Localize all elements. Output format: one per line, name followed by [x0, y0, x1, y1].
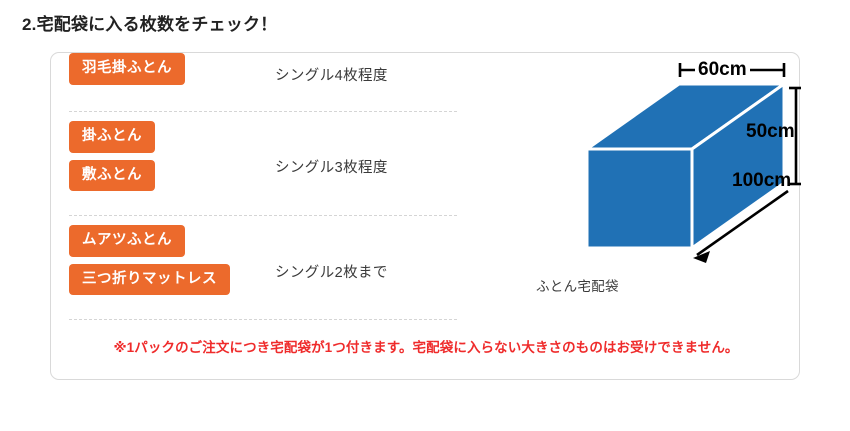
capacity-description: シングル4枚程度 [275, 64, 388, 85]
badge-wrap: 敷ふとん [69, 160, 269, 192]
height-dimension-label: 50cm [746, 121, 795, 143]
badge-wrap: ムアツふとん [69, 225, 269, 257]
capacity-description: シングル3枚程度 [275, 156, 388, 177]
page-title: 2.宅配袋に入る枚数をチェック！ [22, 10, 277, 35]
badge-wrap: 掛ふとん [69, 121, 269, 153]
item-badge: 掛ふとん [69, 121, 155, 153]
capacity-row: ムアツふとん 三つ折りマットレス シングル2枚まで [51, 225, 461, 317]
capacity-row: 掛ふとん 敷ふとん シングル3枚程度 [51, 121, 461, 213]
badge-group: ムアツふとん 三つ折りマットレス [69, 225, 269, 295]
item-badge: ムアツふとん [69, 225, 185, 257]
delivery-bag-note: ※1パックのご注文につき宅配袋が1つ付きます。宅配袋に入らない大きさのものはお受… [51, 336, 801, 356]
item-badge: 羽毛掛ふとん [69, 53, 185, 85]
capacity-card: 羽毛掛ふとん シングル4枚程度 掛ふとん 敷ふとん シングル3枚程度 [50, 52, 800, 380]
row-divider [69, 215, 457, 216]
capacity-row-list: 羽毛掛ふとん シングル4枚程度 掛ふとん 敷ふとん シングル3枚程度 [51, 53, 461, 325]
diagram-caption: ふとん宅配袋 [536, 275, 619, 295]
row-divider [69, 319, 457, 320]
badge-group: 羽毛掛ふとん [69, 53, 269, 85]
capacity-row: 羽毛掛ふとん シングル4枚程度 [51, 53, 461, 111]
depth-dimension-label: 100cm [732, 170, 791, 192]
badge-group: 掛ふとん 敷ふとん [69, 121, 269, 191]
badge-wrap: 三つ折りマットレス [69, 264, 269, 296]
capacity-description: シングル2枚まで [275, 261, 388, 282]
row-divider [69, 111, 457, 112]
box-left-face [587, 149, 692, 248]
item-badge: 敷ふとん [69, 160, 155, 192]
width-dimension-label: 60cm [695, 59, 750, 81]
delivery-bag-diagram: 60cm 50cm 100cm ふとん宅配袋 [466, 53, 801, 325]
item-badge: 三つ折りマットレス [69, 264, 230, 296]
badge-wrap: 羽毛掛ふとん [69, 53, 269, 85]
